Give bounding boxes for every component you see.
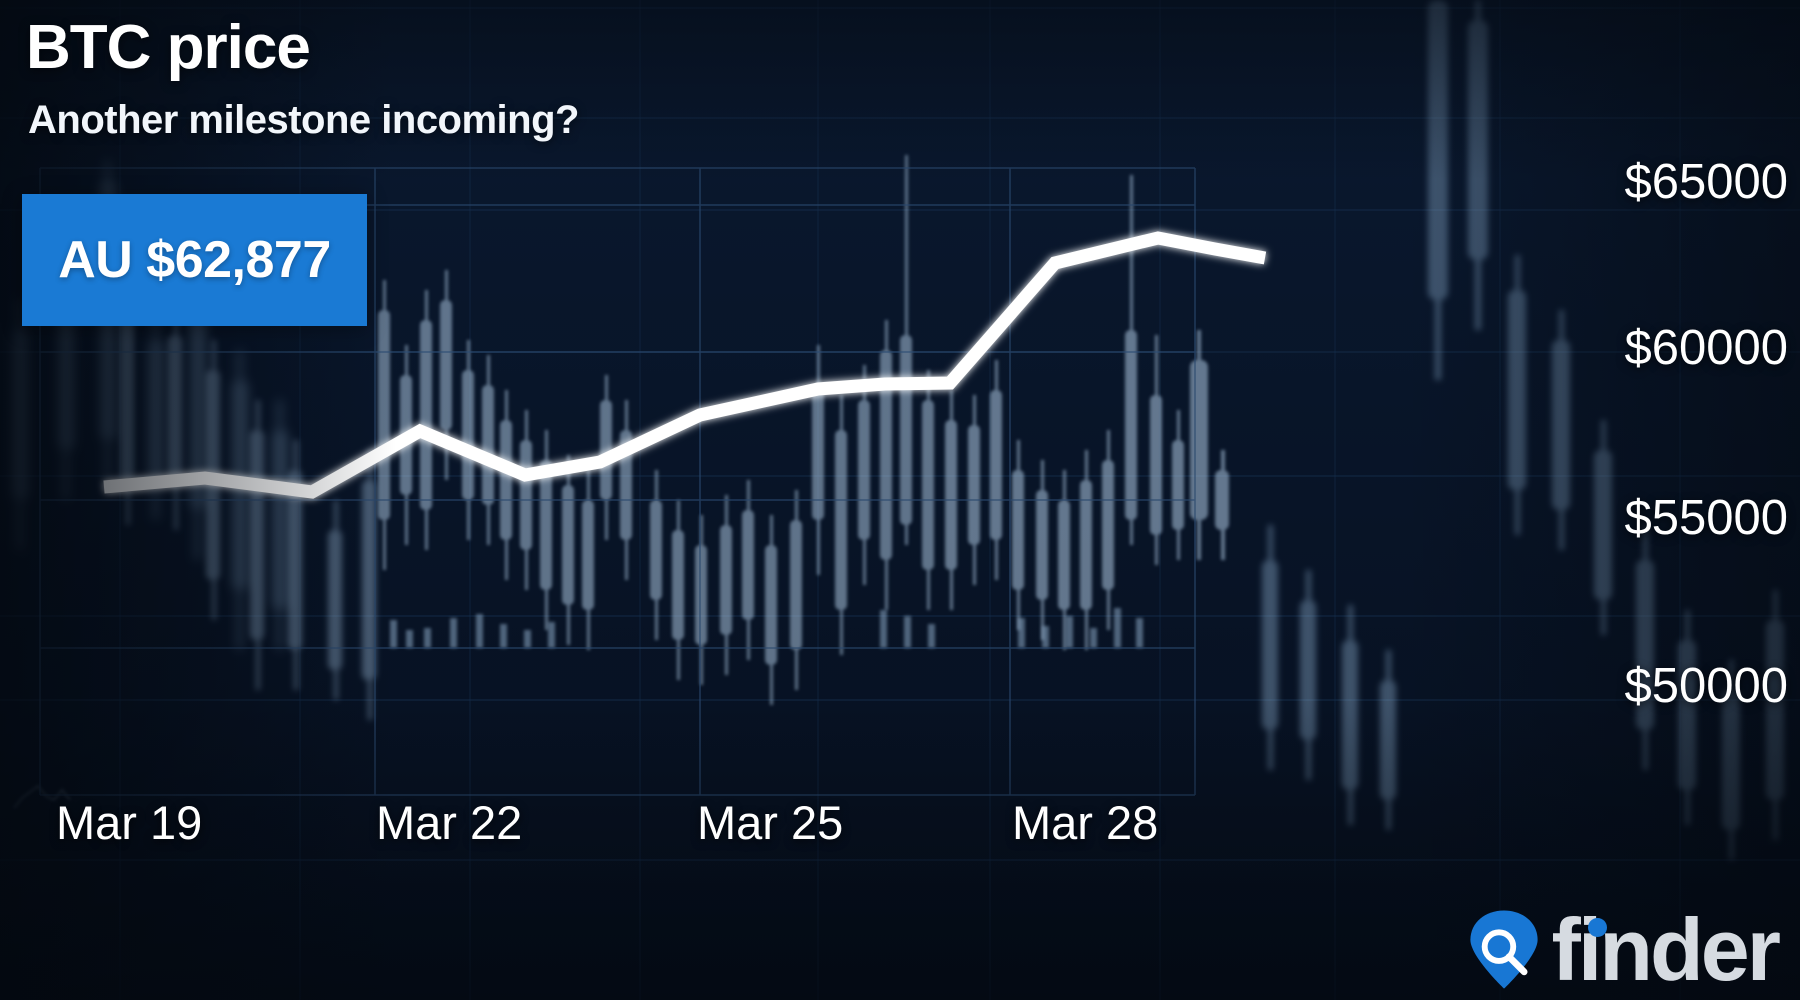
brand-wordmark-text: finder [1552, 900, 1778, 999]
ytick-label-55000: $55000 [1624, 490, 1788, 546]
brand-wordmark: finder [1552, 910, 1782, 989]
ytick-label-65000: $65000 [1624, 154, 1788, 210]
brand-dot-icon [1588, 918, 1607, 937]
xtick-label-mar-25: Mar 25 [697, 795, 843, 850]
current-price-badge: AU $62,877 [22, 194, 367, 326]
finder-logo: finder [1462, 908, 1782, 992]
ytick-label-60000: $60000 [1624, 320, 1788, 376]
page-title: BTC price [26, 12, 310, 83]
xtick-label-mar-22: Mar 22 [376, 795, 522, 850]
xtick-label-mar-19: Mar 19 [56, 795, 202, 850]
page-subtitle: Another milestone incoming? [28, 98, 579, 143]
xtick-label-mar-28: Mar 28 [1012, 795, 1158, 850]
chart-canvas: BTC price Another milestone incoming? AU… [0, 0, 1800, 1000]
current-price-label: AU $62,877 [58, 230, 331, 290]
ytick-label-50000: $50000 [1624, 658, 1788, 714]
magnifier-droplet-icon [1462, 908, 1546, 992]
